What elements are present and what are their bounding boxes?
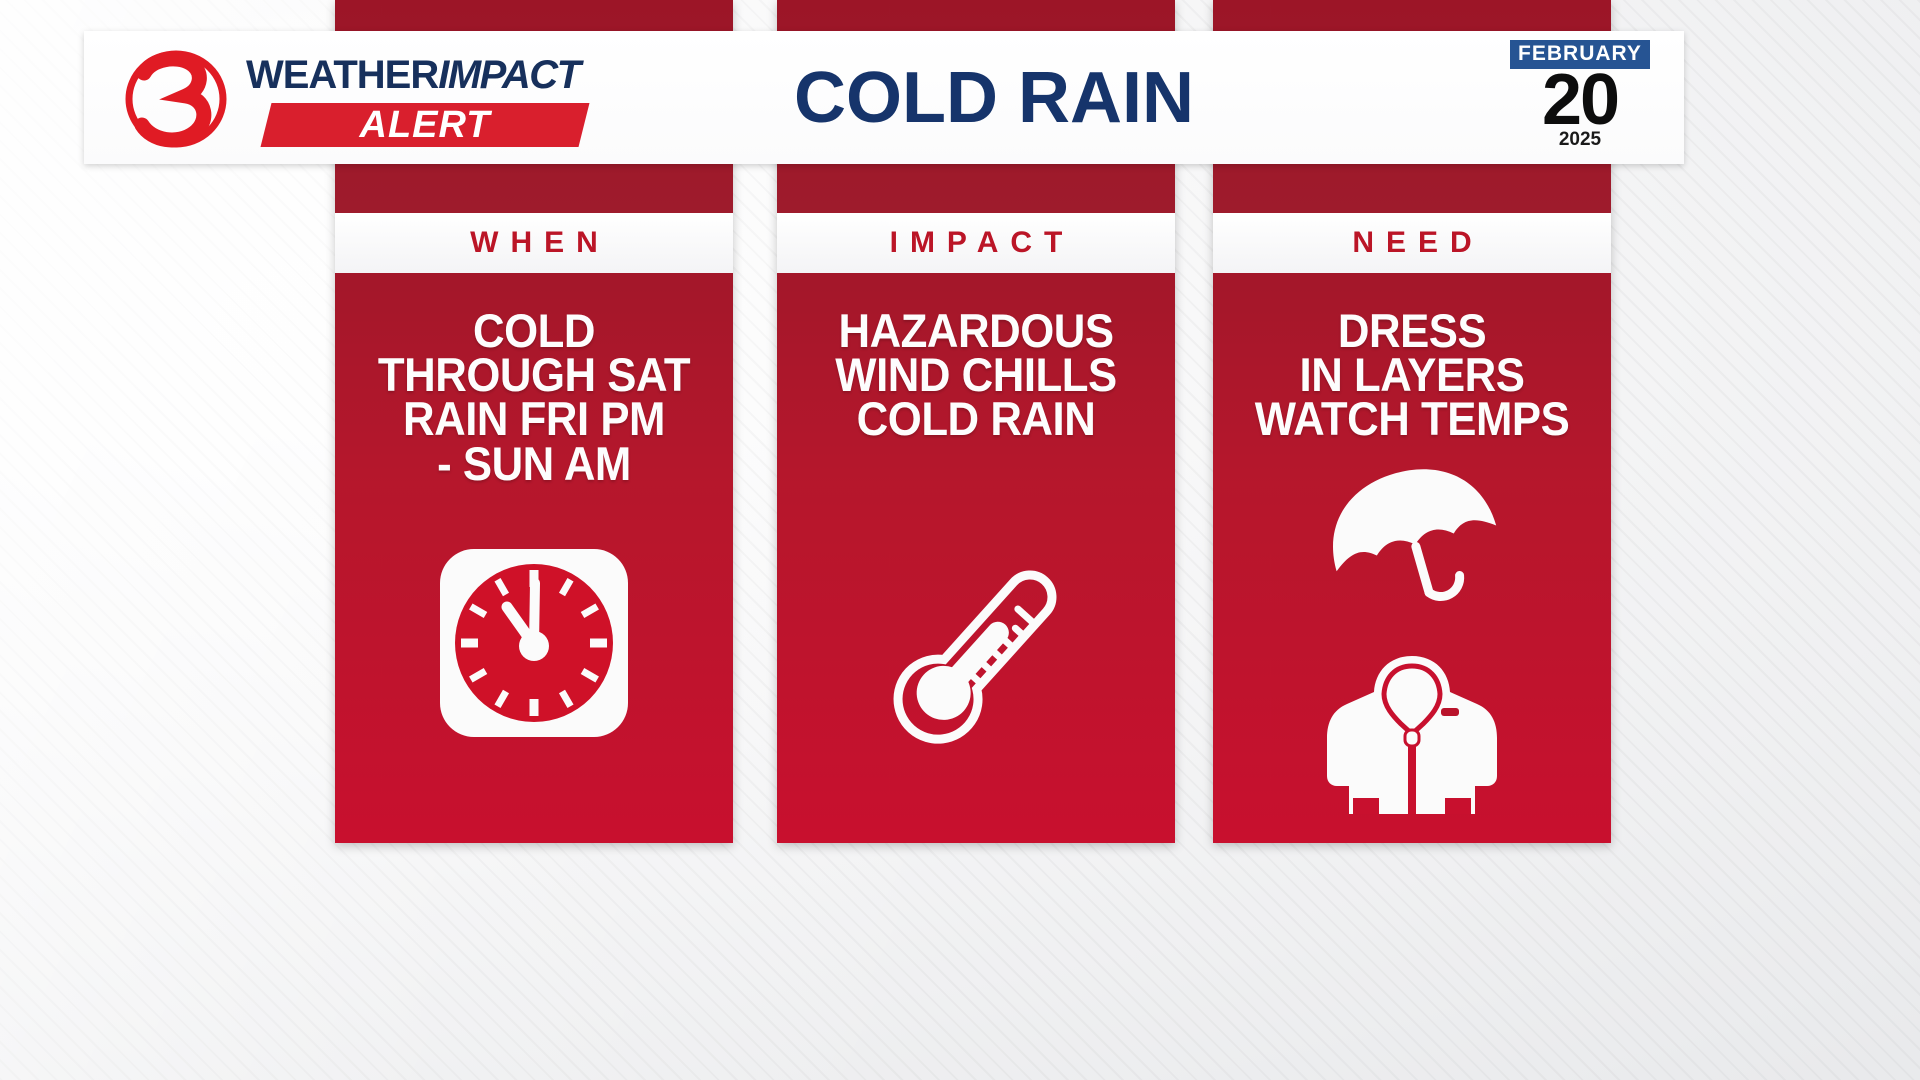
date-year: 2025: [1510, 129, 1650, 151]
date-badge: FEBRUARY 20 2025: [1510, 40, 1650, 158]
weather-impact-wordmark: WEATHERIMPACT ALERT: [246, 53, 596, 148]
thermometer-icon: [777, 523, 1175, 773]
panel-need-text: DRESS IN LAYERS WATCH TEMPS: [1227, 273, 1597, 442]
wordmark-weather: WEATHER: [246, 53, 438, 97]
panel-need-header-label: NEED: [1340, 226, 1483, 260]
panel-need-header: NEED: [1213, 213, 1611, 273]
date-day: 20: [1510, 67, 1650, 133]
channel-3-circle-logo-icon: [118, 49, 238, 149]
wordmark-impact: IMPACT: [438, 53, 579, 97]
panel-impact-text: HAZARDOUS WIND CHILLS COLD RAIN: [791, 273, 1161, 442]
panel-when-body: COLD THROUGH SAT RAIN FRI PM - SUN AM: [335, 273, 733, 843]
panel-impact-header-label: IMPACT: [878, 226, 1075, 260]
alert-banner: ALERT: [261, 103, 590, 147]
weather-alert-graphic: WHEN COLD THROUGH SAT RAIN FRI PM - SUN …: [0, 0, 1920, 1080]
page-title: COLD RAIN: [604, 31, 1384, 164]
clock-icon: [335, 528, 733, 758]
jacket-icon: [1213, 638, 1611, 838]
panel-when-header-label: WHEN: [458, 226, 610, 260]
umbrella-icon: [1213, 453, 1611, 638]
panel-when-text: COLD THROUGH SAT RAIN FRI PM - SUN AM: [349, 273, 719, 486]
panel-impact-body: HAZARDOUS WIND CHILLS COLD RAIN: [777, 273, 1175, 843]
header-bar: WEATHERIMPACT ALERT COLD RAIN FEBRUARY 2…: [84, 31, 1684, 164]
wordmark-line: WEATHERIMPACT: [246, 53, 580, 98]
panel-need-body: DRESS IN LAYERS WATCH TEMPS: [1213, 273, 1611, 843]
panel-when-header: WHEN: [335, 213, 733, 273]
alert-label: ALERT: [266, 103, 584, 147]
panel-impact-header: IMPACT: [777, 213, 1175, 273]
